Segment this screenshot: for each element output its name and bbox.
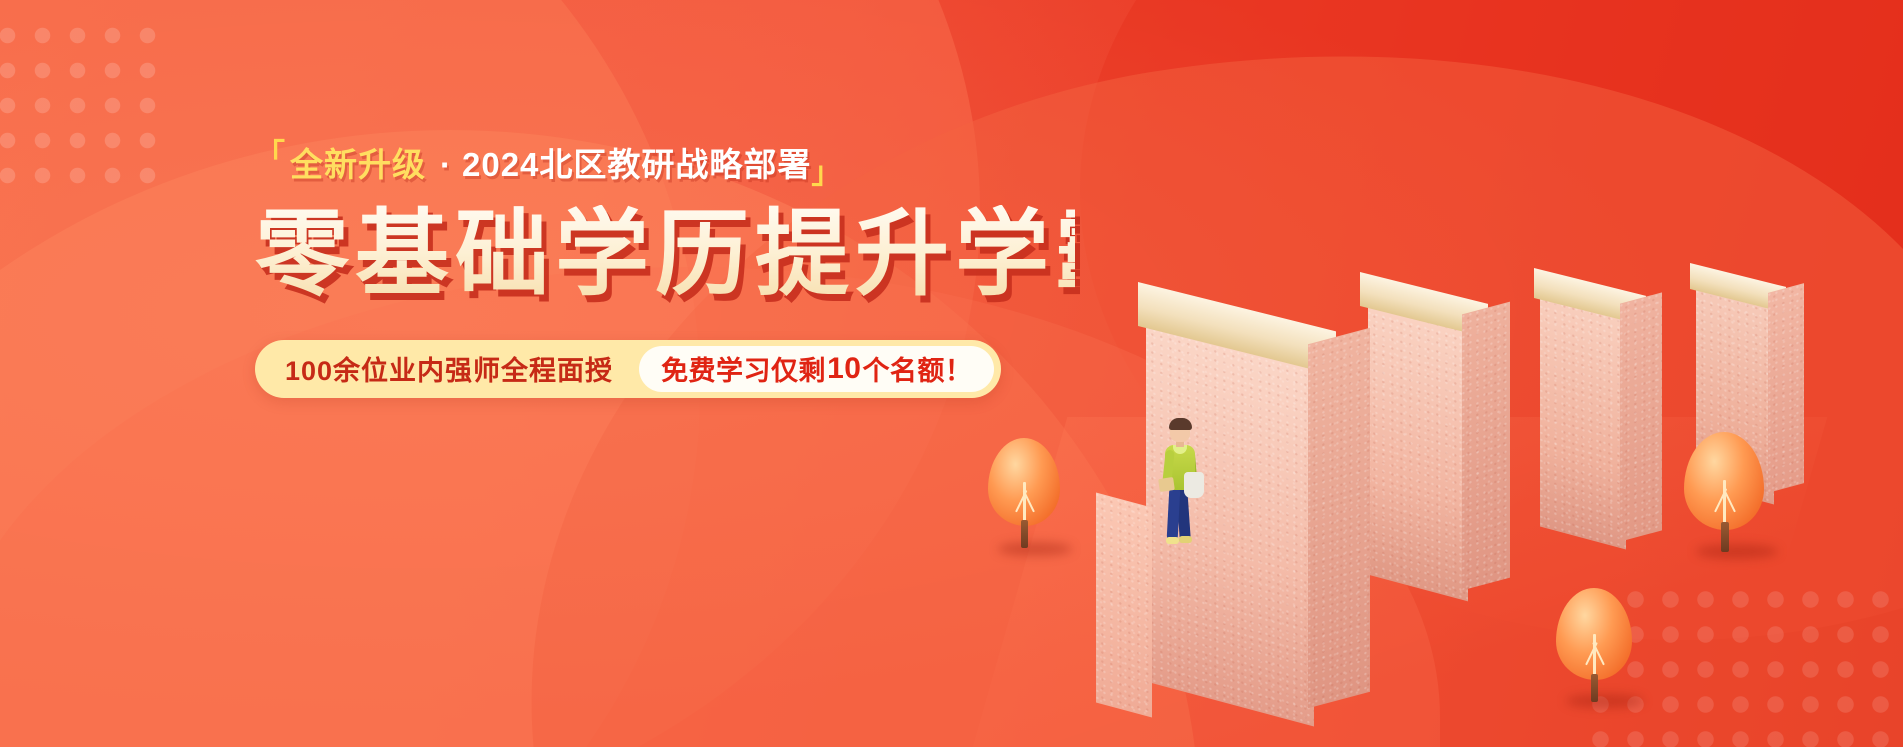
tree-right-upper [1684,432,1770,572]
offer-prefix: 免费学习仅剩 [661,349,826,388]
offer-seats-count: 10 [826,352,862,386]
offer-suffix: 个名额！ [862,349,972,388]
offer-pill-left-text: 100余位业内强师全程面授 [285,349,639,388]
tree-shadow [1696,544,1778,559]
bracket-open-icon: 「 [255,141,286,171]
subtitle-highlight: 全新升级 [286,148,430,181]
tree-branch [1723,480,1726,524]
offer-pill: 100余位业内强师全程面授 免费学习仅剩 10 个名额！ [255,340,1001,398]
subtitle-separator-icon: · [430,148,462,181]
book-slab-face [1462,302,1510,591]
tree-shadow [1566,694,1644,708]
student-book [1158,477,1175,492]
tree-trunk [1021,520,1028,548]
student-hair [1169,418,1192,430]
dot-pattern-top-left [0,18,172,198]
offer-pill-badge: 免费学习仅剩 10 个名额！ [639,346,994,392]
tree-trunk [1591,674,1598,702]
book-slab-face [1620,292,1662,541]
tree-shadow [998,542,1072,556]
promo-banner: 「 全新升级 · 2024北区教研战略部署 」 零基础学历提升学霸班 100余位… [0,0,1903,747]
tree-branch [1593,634,1596,676]
tree-branch [1023,482,1026,522]
book-arch-illustration [960,0,1903,747]
student-backpack [1184,472,1204,498]
student-shoe-back [1179,536,1192,543]
banner-subtitle: 「 全新升级 · 2024北区教研战略部署 」 [255,148,1075,181]
tree-trunk [1721,522,1729,552]
subtitle-rest: 2024北区教研战略部署 [462,148,811,181]
book-slab-face [1308,328,1370,709]
tree-right-lower [1556,588,1636,718]
book-slab-face [1768,283,1804,493]
book-arch-pillar [1096,492,1152,717]
student-figure [1156,420,1216,550]
banner-headline: 零基础学历提升学霸班 [255,205,1075,304]
bracket-close-icon: 」 [811,159,842,189]
student-shoe-front [1166,537,1179,544]
tree-left [988,438,1064,563]
banner-copy: 「 全新升级 · 2024北区教研战略部署 」 零基础学历提升学霸班 100余位… [255,148,1075,398]
